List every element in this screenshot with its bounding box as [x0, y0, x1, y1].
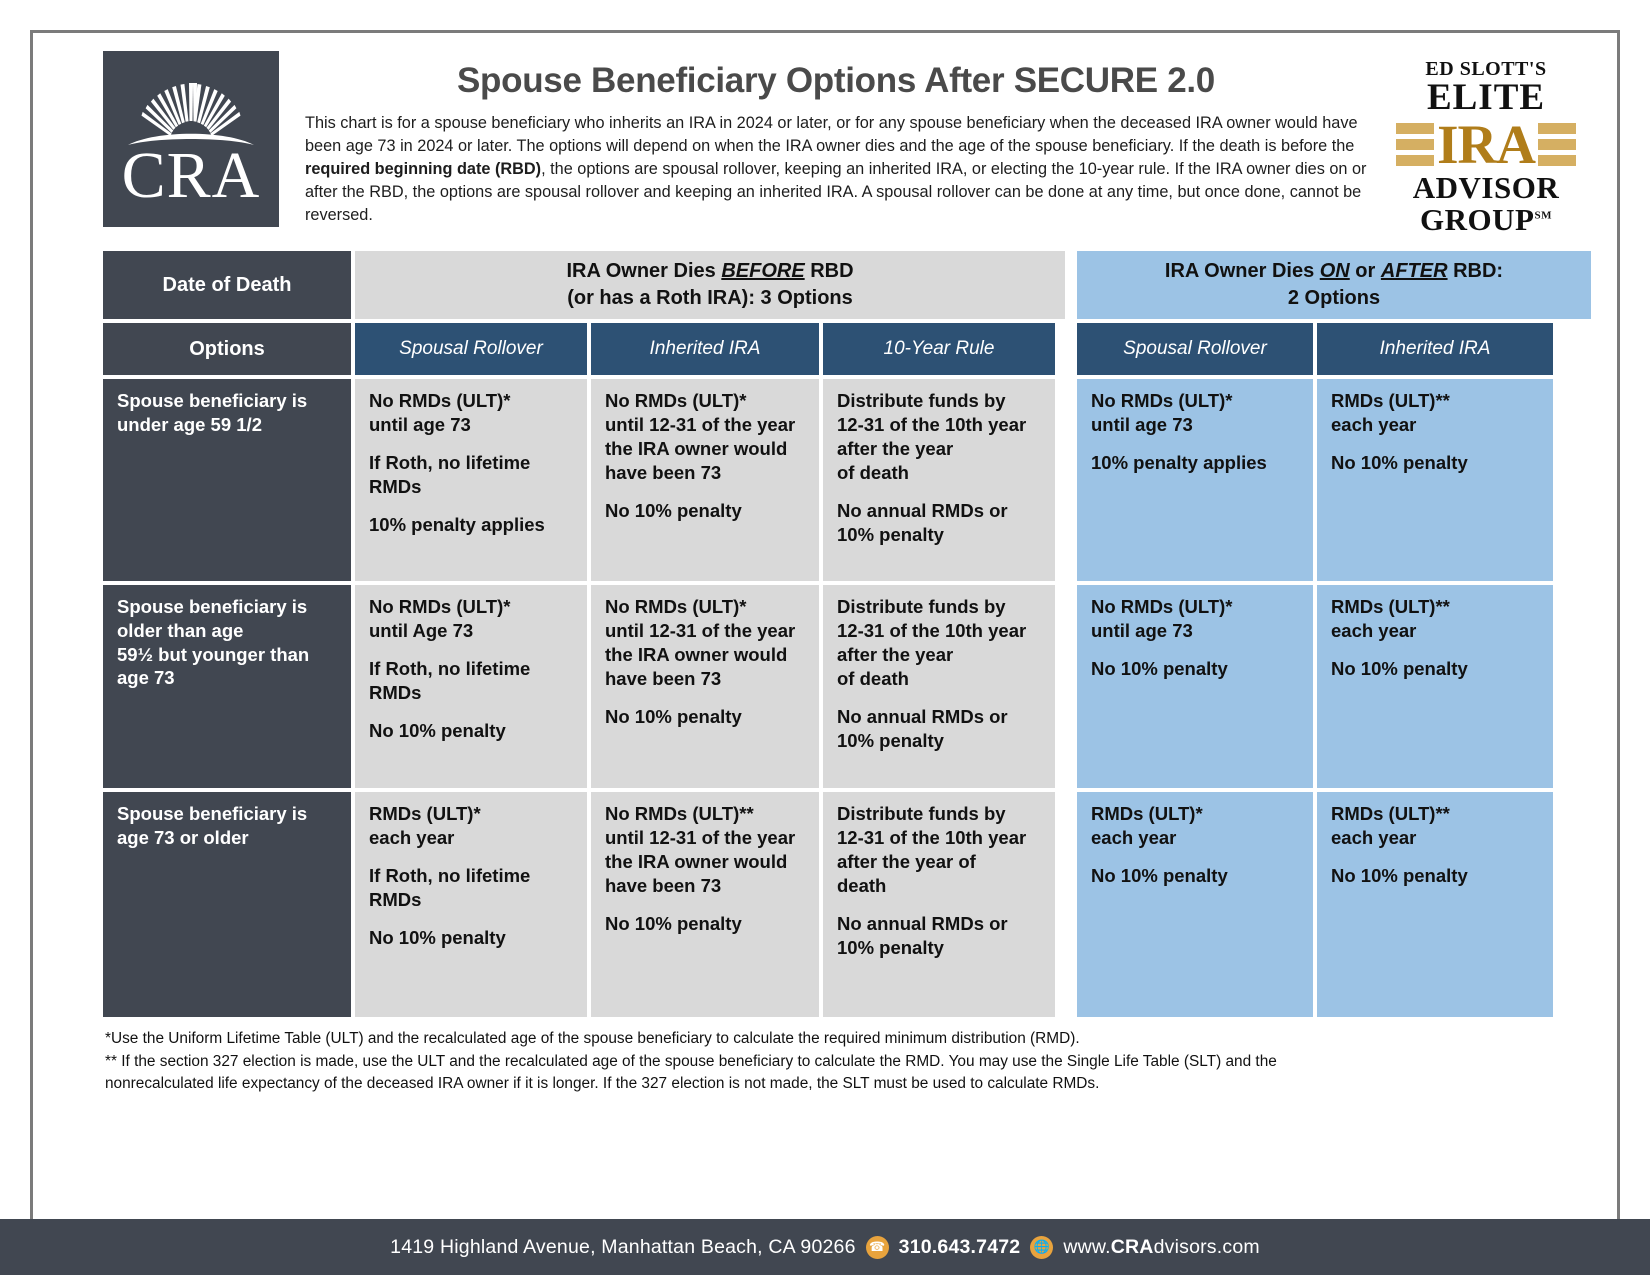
cell-para: No RMDs (ULT)* until 12-31 of the year t… [605, 595, 805, 691]
cell-para: If Roth, no lifetime RMDs [369, 864, 573, 912]
cell-para: If Roth, no lifetime RMDs [369, 451, 573, 499]
intro-text-1: This chart is for a spouse beneficiary w… [305, 114, 1358, 155]
cell-para: No RMDs (ULT)* until Age 73 [369, 595, 573, 643]
globe-icon: 🌐 [1030, 1236, 1053, 1259]
table-row: Spouse beneficiary is older than age 59½… [103, 585, 1065, 788]
elite-logo-ira: IRA [1434, 119, 1538, 171]
table-header-band-row-right: IRA Owner Dies ON or AFTER RBD: 2 Option… [1077, 251, 1591, 319]
cell-para: Distribute funds by 12-31 of the 10th ye… [837, 802, 1041, 898]
column-header-inherited-ira-after: Inherited IRA [1317, 323, 1553, 375]
cell-before-spousal-rollover-row1: No RMDs (ULT)* until age 73 If Roth, no … [355, 379, 587, 581]
footer-address: 1419 Highland Avenue, Manhattan Beach, C… [390, 1236, 855, 1259]
row-label-text: Spouse beneficiary is older than age 59½… [117, 595, 337, 690]
cell-para: No RMDs (ULT)** until 12-31 of the year … [605, 802, 805, 898]
column-header-ten-year-rule: 10-Year Rule [823, 323, 1055, 375]
cell-after-inherited-ira-row2: RMDs (ULT)** each year No 10% penalty [1317, 585, 1553, 788]
cell-para: No RMDs (ULT)* until age 73 [1091, 595, 1299, 643]
cell-before-ten-year-rule-row2: Distribute funds by 12-31 of the 10th ye… [823, 585, 1055, 788]
cra-logo: CRA [103, 51, 279, 227]
elite-logo-line-4: ADVISOR [1381, 172, 1591, 204]
column-header-inherited-ira-before: Inherited IRA [591, 323, 819, 375]
cell-para: RMDs (ULT)* each year [369, 802, 573, 850]
cell-para: Distribute funds by 12-31 of the 10th ye… [837, 389, 1041, 485]
options-table: Date of Death IRA Owner Dies BEFORE RBD … [33, 235, 1617, 1017]
cell-para: 10% penalty applies [1091, 451, 1299, 475]
phone-icon: ☎ [866, 1236, 889, 1259]
document-page: CRA Spouse Beneficiary Options After SEC… [0, 0, 1650, 1275]
cell-para: No annual RMDs or 10% penalty [837, 912, 1041, 960]
group-header-after-line1: IRA Owner Dies ON or AFTER RBD: [1165, 258, 1503, 285]
cell-para: RMDs (ULT)** each year [1331, 802, 1539, 850]
footnote-double-asterisk-line1: ** If the section 327 election is made, … [105, 1052, 1577, 1072]
cell-para: No 10% penalty [1091, 864, 1299, 888]
footer-phone[interactable]: 310.643.7472 [899, 1236, 1021, 1259]
group-header-before-line2: (or has a Roth IRA): 3 Options [567, 285, 853, 312]
column-header-spousal-rollover-before: Spousal Rollover [355, 323, 587, 375]
cell-after-spousal-rollover-row3: RMDs (ULT)* each year No 10% penalty [1077, 792, 1313, 1017]
group-before-rbd: Date of Death IRA Owner Dies BEFORE RBD … [103, 251, 1065, 1017]
page-title: Spouse Beneficiary Options After SECURE … [305, 63, 1367, 100]
footnote-double-asterisk-line2: nonrecalculated life expectancy of the d… [105, 1074, 1577, 1094]
ed-slott-elite-ira-advisor-group-logo: ED SLOTT'S ELITE IRA ADVISOR GROUPSM [1381, 51, 1591, 235]
table-row: No RMDs (ULT)* until age 73 No 10% penal… [1077, 585, 1591, 788]
table-row: No RMDs (ULT)* until age 73 10% penalty … [1077, 379, 1591, 581]
elite-logo-line-5: GROUPSM [1381, 204, 1591, 236]
website-prefix: www. [1063, 1236, 1110, 1258]
cell-para: No RMDs (ULT)* until age 73 [1091, 389, 1299, 437]
cell-para: No 10% penalty [1331, 657, 1539, 681]
before-pre: IRA Owner Dies [566, 260, 721, 282]
cell-before-ten-year-rule-row1: Distribute funds by 12-31 of the 10th ye… [823, 379, 1055, 581]
group-header-on-after-rbd: IRA Owner Dies ON or AFTER RBD: 2 Option… [1077, 251, 1591, 319]
before-post: RBD [805, 260, 854, 282]
cell-para: No annual RMDs or 10% penalty [837, 499, 1041, 547]
elite-logo-line-2: ELITE [1381, 79, 1591, 117]
cell-para: No 10% penalty [369, 719, 573, 743]
table-options-row: Options Spousal Rollover Inherited IRA 1… [103, 323, 1065, 375]
cell-para: No 10% penalty [605, 912, 805, 936]
cell-before-inherited-ira-row2: No RMDs (ULT)* until 12-31 of the year t… [591, 585, 819, 788]
footnotes: *Use the Uniform Lifetime Table (ULT) an… [33, 1017, 1617, 1094]
row-label-73-or-older: Spouse beneficiary is age 73 or older [103, 792, 351, 1017]
cell-para: RMDs (ULT)** each year [1331, 595, 1539, 643]
group-on-after-rbd: IRA Owner Dies ON or AFTER RBD: 2 Option… [1077, 251, 1591, 1017]
left-bars-icon [1396, 123, 1434, 166]
cell-para: Distribute funds by 12-31 of the 10th ye… [837, 595, 1041, 691]
table-row: Spouse beneficiary is under age 59 1/2 N… [103, 379, 1065, 581]
cell-before-ten-year-rule-row3: Distribute funds by 12-31 of the 10th ye… [823, 792, 1055, 1017]
cell-para: No annual RMDs or 10% penalty [837, 705, 1041, 753]
elite-logo-ira-row: IRA [1381, 119, 1591, 171]
footnote-single-asterisk: *Use the Uniform Lifetime Table (ULT) an… [105, 1029, 1577, 1049]
before-emphasis: BEFORE [721, 260, 804, 282]
elite-logo-line-1: ED SLOTT'S [1381, 59, 1591, 79]
group-header-after-line2: 2 Options [1288, 285, 1380, 312]
cell-para: No RMDs (ULT)* until age 73 [369, 389, 573, 437]
after-pre: IRA Owner Dies [1165, 260, 1320, 282]
document-header: CRA Spouse Beneficiary Options After SEC… [33, 33, 1617, 235]
cell-para: RMDs (ULT)* each year [1091, 802, 1299, 850]
website-brand: CRA [1111, 1236, 1154, 1258]
website-suffix: dvisors.com [1154, 1236, 1260, 1258]
footer-bar: 1419 Highland Avenue, Manhattan Beach, C… [0, 1219, 1650, 1275]
intro-paragraph: This chart is for a spouse beneficiary w… [305, 112, 1367, 228]
group-header-before-rbd: IRA Owner Dies BEFORE RBD (or has a Roth… [355, 251, 1065, 319]
group-header-before-line1: IRA Owner Dies BEFORE RBD [566, 258, 853, 285]
table-row: Spouse beneficiary is age 73 or older RM… [103, 792, 1065, 1017]
header-text-block: Spouse Beneficiary Options After SECURE … [279, 51, 1381, 227]
table-options-row-right: Spousal Rollover Inherited IRA [1077, 323, 1591, 375]
right-bars-icon [1538, 123, 1576, 166]
cell-para: No 10% penalty [1091, 657, 1299, 681]
cell-para: No 10% penalty [605, 499, 805, 523]
corner-date-of-death: Date of Death [103, 251, 351, 319]
row-label-under-59-half: Spouse beneficiary is under age 59 1/2 [103, 379, 351, 581]
cell-before-spousal-rollover-row3: RMDs (ULT)* each year If Roth, no lifeti… [355, 792, 587, 1017]
cell-before-inherited-ira-row1: No RMDs (ULT)* until 12-31 of the year t… [591, 379, 819, 581]
row-label-59-half-to-73: Spouse beneficiary is older than age 59½… [103, 585, 351, 788]
cell-para: 10% penalty applies [369, 513, 573, 537]
table-row: RMDs (ULT)* each year No 10% penalty RMD… [1077, 792, 1591, 1017]
after-emphasis-after: AFTER [1381, 260, 1448, 282]
cell-after-spousal-rollover-row2: No RMDs (ULT)* until age 73 No 10% penal… [1077, 585, 1313, 788]
elite-logo-group-text: GROUP [1420, 202, 1534, 237]
table-groups: Date of Death IRA Owner Dies BEFORE RBD … [103, 251, 1591, 1017]
cell-para: No 10% penalty [605, 705, 805, 729]
row-label-text: Spouse beneficiary is age 73 or older [117, 802, 337, 849]
options-label: Options [103, 323, 351, 375]
cell-before-inherited-ira-row3: No RMDs (ULT)** until 12-31 of the year … [591, 792, 819, 1017]
after-mid: or [1350, 260, 1381, 282]
cell-para: RMDs (ULT)** each year [1331, 389, 1539, 437]
cell-after-inherited-ira-row1: RMDs (ULT)** each year No 10% penalty [1317, 379, 1553, 581]
cell-para: No 10% penalty [1331, 451, 1539, 475]
cell-para: No 10% penalty [1331, 864, 1539, 888]
after-emphasis-on: ON [1320, 260, 1350, 282]
table-header-band-row: Date of Death IRA Owner Dies BEFORE RBD … [103, 251, 1065, 319]
after-post: RBD: [1448, 260, 1504, 282]
cell-after-spousal-rollover-row1: No RMDs (ULT)* until age 73 10% penalty … [1077, 379, 1313, 581]
cra-logo-text: CRA [103, 143, 279, 209]
elite-logo-trademark: SM [1534, 209, 1552, 221]
column-header-spousal-rollover-after: Spousal Rollover [1077, 323, 1313, 375]
cell-after-inherited-ira-row3: RMDs (ULT)** each year No 10% penalty [1317, 792, 1553, 1017]
footer-website[interactable]: www.CRAdvisors.com [1063, 1236, 1259, 1259]
page-border: CRA Spouse Beneficiary Options After SEC… [30, 30, 1620, 1245]
cell-para: If Roth, no lifetime RMDs [369, 657, 573, 705]
intro-text-bold: required beginning date (RBD) [305, 160, 541, 178]
row-label-text: Spouse beneficiary is under age 59 1/2 [117, 389, 337, 436]
cell-para: No RMDs (ULT)* until 12-31 of the year t… [605, 389, 805, 485]
cell-before-spousal-rollover-row2: No RMDs (ULT)* until Age 73 If Roth, no … [355, 585, 587, 788]
cell-para: No 10% penalty [369, 926, 573, 950]
